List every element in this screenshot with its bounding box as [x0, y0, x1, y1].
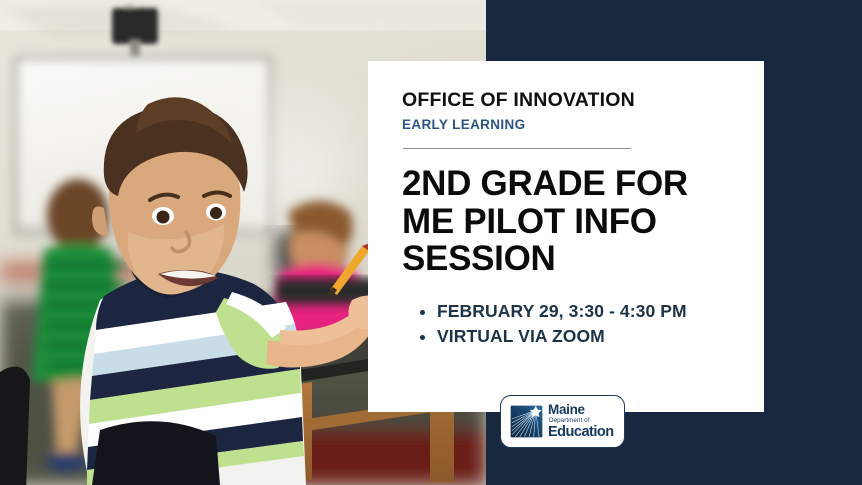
bullet-icon	[420, 310, 425, 315]
list-item: VIRTUAL VIA ZOOM	[418, 324, 734, 350]
logo-line-education: Education	[548, 425, 614, 440]
maine-doe-logo: Maine Department of Education	[500, 395, 625, 448]
maine-doe-logo-text: Maine Department of Education	[548, 403, 614, 439]
event-location: VIRTUAL VIA ZOOM	[437, 326, 605, 346]
headline-line-2: ME PILOT INFO	[402, 203, 734, 240]
event-datetime: FEBRUARY 29, 3:30 - 4:30 PM	[437, 301, 687, 321]
headline-line-3: SESSION	[402, 240, 734, 277]
content-card: OFFICE OF INNOVATION EARLY LEARNING 2ND …	[368, 61, 764, 412]
program-subkicker: EARLY LEARNING	[402, 117, 734, 132]
maine-doe-logo-mark	[510, 405, 543, 438]
flyer-canvas: OFFICE OF INNOVATION EARLY LEARNING 2ND …	[0, 0, 862, 485]
office-kicker: OFFICE OF INNOVATION	[402, 89, 734, 111]
event-headline: 2ND GRADE FOR ME PILOT INFO SESSION	[402, 165, 734, 276]
divider-rule	[403, 148, 631, 149]
bullet-icon	[420, 335, 425, 340]
logo-line-maine: Maine	[548, 403, 614, 417]
list-item: FEBRUARY 29, 3:30 - 4:30 PM	[418, 299, 734, 325]
headline-line-1: 2ND GRADE FOR	[402, 165, 734, 202]
event-details-list: FEBRUARY 29, 3:30 - 4:30 PM VIRTUAL VIA …	[402, 299, 734, 350]
